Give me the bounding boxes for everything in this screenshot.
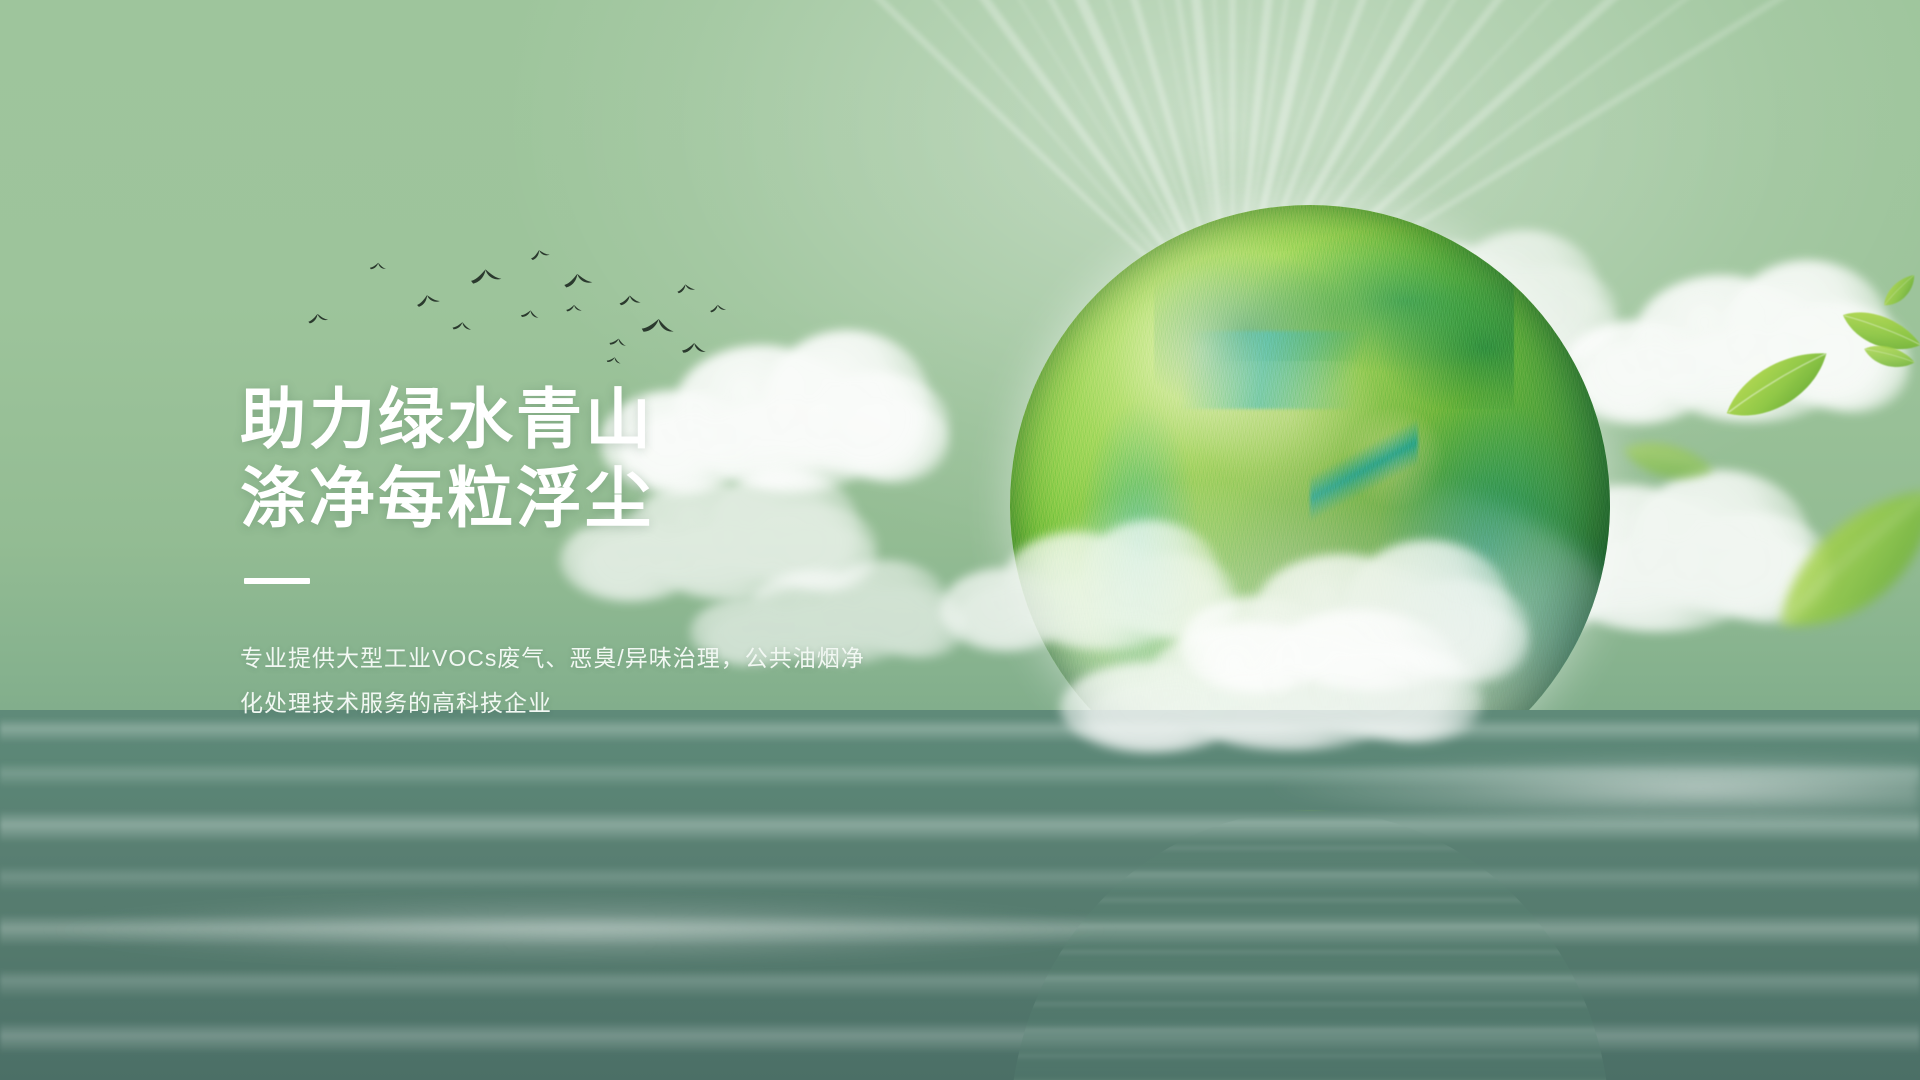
- bird-icon: [618, 294, 642, 306]
- bird-icon: [528, 247, 551, 261]
- cloud-puff: [1673, 512, 1831, 620]
- bird-icon: [709, 303, 728, 313]
- headline-line-1: 助力绿水青山: [240, 380, 960, 459]
- bird-icon: [414, 292, 442, 309]
- bird-icon: [605, 355, 622, 366]
- subtitle-line-1: 专业提供大型工业VOCs废气、恶臭/异味治理，公共油烟净: [240, 636, 890, 681]
- cloud-puff: [1709, 539, 1831, 623]
- bird-icon: [639, 316, 676, 336]
- cloud-puff: [1630, 470, 1810, 613]
- leaf-icon: [1712, 333, 1844, 439]
- hero-banner: 助力绿水青山 涤净每粒浮尘 专业提供大型工业VOCs废气、恶臭/异味治理，公共油…: [0, 0, 1920, 1080]
- page-title: 助力绿水青山 涤净每粒浮尘: [240, 380, 960, 538]
- subtitle: 专业提供大型工业VOCs废气、恶臭/异味治理，公共油烟净 化处理技术服务的高科技…: [240, 636, 890, 726]
- leaf-icon: [1876, 268, 1920, 314]
- leaf-icon: [1834, 296, 1920, 368]
- water-surface: [0, 710, 1920, 1080]
- leaf-icon: [1859, 336, 1918, 377]
- bird-icon: [306, 312, 329, 325]
- bird-icon: [468, 267, 503, 285]
- subtitle-line-2: 化处理技术服务的高科技企业: [240, 681, 890, 726]
- hero-copy: 助力绿水青山 涤净每粒浮尘 专业提供大型工业VOCs废气、恶臭/异味治理，公共油…: [240, 380, 960, 726]
- title-divider: [244, 578, 310, 584]
- leaf-icon: [1616, 428, 1720, 497]
- bird-icon: [520, 308, 541, 320]
- cloud-puff: [1725, 260, 1890, 403]
- leaf-icon: [1745, 455, 1920, 669]
- water-highlight-right: [820, 728, 1920, 848]
- bird-icon: [680, 342, 707, 356]
- cloud-puff: [1659, 329, 1844, 422]
- bird-icon: [369, 262, 388, 272]
- cloud-puff: [1798, 329, 1910, 413]
- cloud-puff: [1765, 302, 1910, 410]
- water-highlight-left: [0, 860, 1280, 1000]
- bird-icon: [608, 337, 628, 349]
- cloud-puff: [1633, 275, 1811, 404]
- headline-line-2: 涤净每粒浮尘: [240, 459, 960, 538]
- bird-icon: [451, 321, 473, 333]
- bird-icon: [561, 271, 594, 289]
- bird-icon: [675, 282, 696, 294]
- bird-icon: [565, 304, 583, 313]
